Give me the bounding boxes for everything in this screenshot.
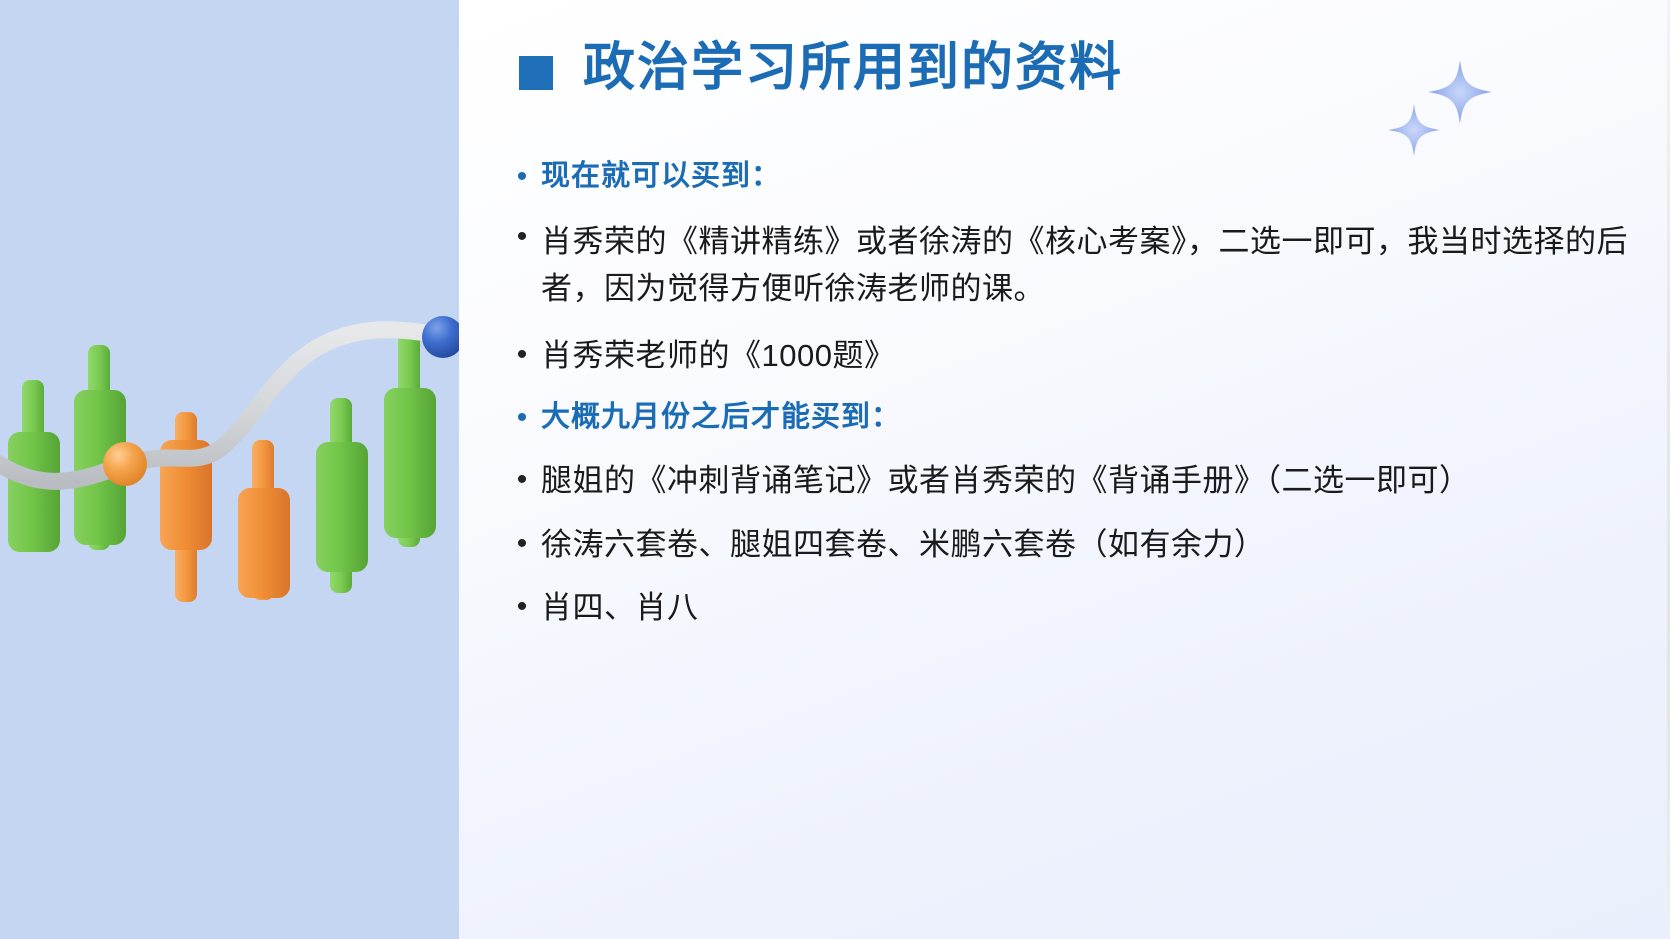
candle-6 — [384, 332, 436, 547]
trend-line — [0, 330, 448, 482]
list-item: • 肖四、肖八 — [503, 588, 1646, 628]
list-item-label: 现在就可以买到： — [541, 158, 781, 195]
bullet-dot-icon: • — [503, 588, 541, 626]
bullet-dot-icon: • — [503, 218, 541, 256]
list-item: • 腿姐的《冲刺背诵笔记》或者肖秀荣的《背诵手册》（二选一即可） — [503, 461, 1646, 501]
candle-4 — [238, 440, 290, 600]
sparkle-icon-large — [1428, 60, 1492, 124]
list-item-label: 腿姐的《冲刺背诵笔记》或者肖秀荣的《背诵手册》（二选一即可） — [541, 461, 1471, 501]
sparkle-decoration — [1370, 58, 1510, 168]
content-panel: 政治学习所用到的资料 • 现在就可以买到： • 肖秀荣的《精讲精练》或者徐涛的《… — [459, 0, 1670, 939]
sparkle-icon-small — [1388, 104, 1440, 156]
bullet-dot-icon: • — [503, 158, 541, 196]
bullet-dot-icon: • — [503, 399, 541, 437]
list-item: • 徐涛六套卷、腿姐四套卷、米鹏六套卷（如有余力） — [503, 525, 1646, 565]
slide: 政治学习所用到的资料 • 现在就可以买到： • 肖秀荣的《精讲精练》或者徐涛的《… — [0, 0, 1670, 939]
title-text: 政治学习所用到的资料 — [583, 40, 1123, 97]
bullet-dot-icon: • — [503, 336, 541, 374]
bullet-list: • 现在就可以买到： • 肖秀荣的《精讲精练》或者徐涛的《核心考案》，二选一即可… — [503, 158, 1646, 632]
list-item: • 肖秀荣的《精讲精练》或者徐涛的《核心考案》，二选一即可，我当时选择的后者，因… — [503, 218, 1646, 312]
list-item: • 大概九月份之后才能买到： — [503, 399, 1646, 437]
list-item-label: 肖四、肖八 — [541, 588, 699, 628]
bullet-dot-icon: • — [503, 461, 541, 499]
bullet-dot-icon: • — [503, 525, 541, 563]
list-item: • 现在就可以买到： — [503, 158, 1646, 196]
candle-3 — [160, 412, 212, 602]
illustration-panel — [0, 0, 459, 939]
list-item-label: 肖秀荣的《精讲精练》或者徐涛的《核心考案》，二选一即可，我当时选择的后者，因为觉… — [541, 218, 1646, 312]
list-item: • 肖秀荣老师的《1000题》 — [503, 336, 1646, 376]
candlestick-chart-illustration — [0, 0, 500, 939]
marker-blue — [422, 316, 464, 358]
candle-5 — [316, 398, 368, 593]
page-title: 政治学习所用到的资料 — [519, 40, 1123, 97]
list-item-label: 大概九月份之后才能买到： — [541, 399, 901, 436]
list-item-label: 肖秀荣老师的《1000题》 — [541, 336, 895, 376]
square-marker-icon — [519, 56, 553, 90]
marker-orange — [103, 442, 147, 486]
list-item-label: 徐涛六套卷、腿姐四套卷、米鹏六套卷（如有余力） — [541, 525, 1266, 565]
